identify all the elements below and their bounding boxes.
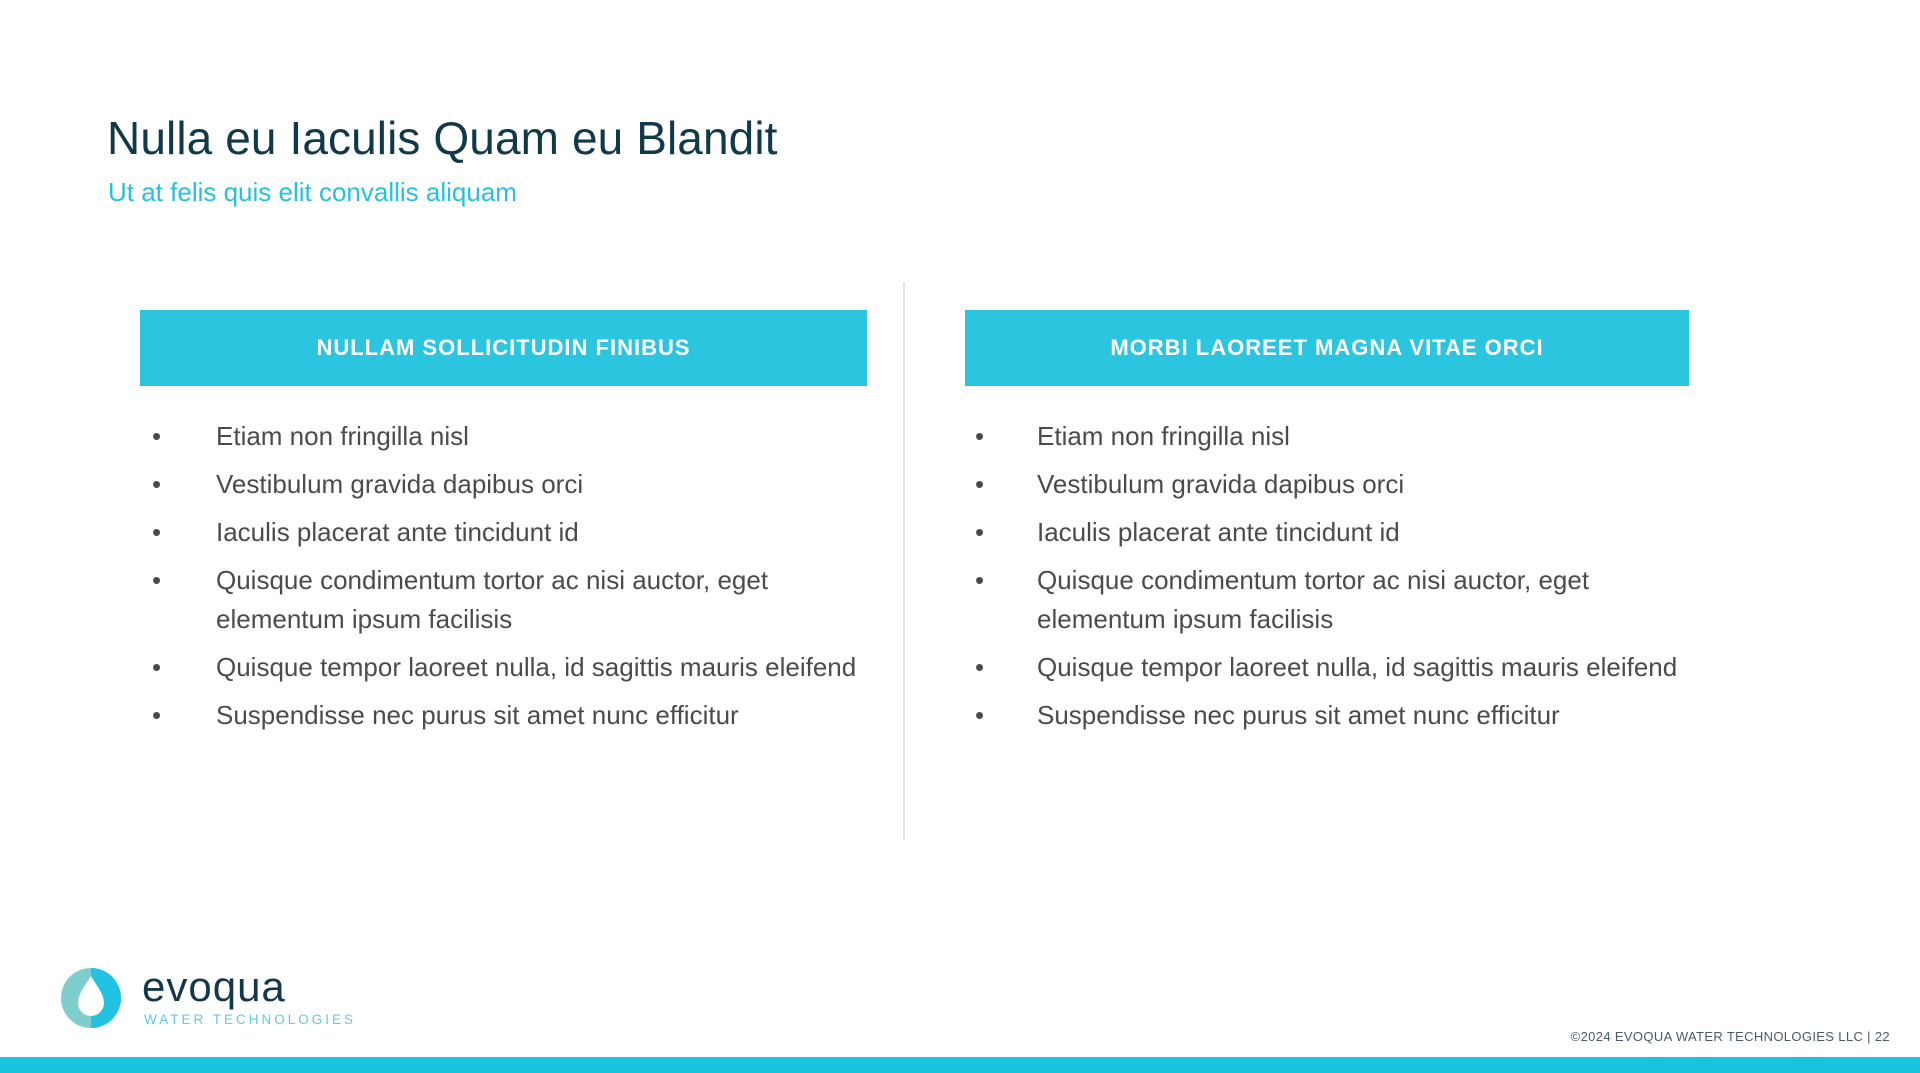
list-item-text: Quisque tempor laoreet nulla, id sagitti… [1037,652,1677,682]
column-header-left: NULLAM SOLLICITUDIN FINIBUS [140,310,867,386]
bullet-marker-icon: • [975,648,984,687]
logo-tagline: WATER TECHNOLOGIES [144,1011,356,1029]
list-item: • Quisque condimentum tortor ac nisi auc… [140,561,867,639]
logo-wordmark: evoqua [142,965,356,1008]
list-item-text: Quisque condimentum tortor ac nisi aucto… [1037,565,1589,634]
bullet-marker-icon: • [152,465,161,504]
bullet-marker-icon: • [975,465,984,504]
copyright-notice: ©2024 EVOQUA WATER TECHNOLOGIES LLC | 22 [1571,1029,1890,1044]
evoqua-logo: evoqua WATER TECHNOLOGIES [58,962,356,1032]
list-item: • Vestibulum gravida dapibus orci [140,465,867,504]
column-divider [903,282,905,840]
content-column-right: MORBI LAOREET MAGNA VITAE ORCI • Etiam n… [965,310,1689,744]
logo-text-block: evoqua WATER TECHNOLOGIES [142,965,356,1029]
list-item: • Quisque tempor laoreet nulla, id sagit… [965,648,1689,687]
list-item-text: Etiam non fringilla nisl [1037,421,1290,451]
list-item-text: Suspendisse nec purus sit amet nunc effi… [216,700,739,730]
bullet-marker-icon: • [152,513,161,552]
bullet-marker-icon: • [152,561,161,600]
list-item-text: Suspendisse nec purus sit amet nunc effi… [1037,700,1560,730]
list-item: • Iaculis placerat ante tincidunt id [965,513,1689,552]
page-title: Nulla eu Iaculis Quam eu Blandit [107,110,778,166]
list-item-text: Iaculis placerat ante tincidunt id [216,517,579,547]
list-item: • Quisque condimentum tortor ac nisi auc… [965,561,1689,639]
page-subtitle: Ut at felis quis elit convallis aliquam [108,176,517,208]
bullet-marker-icon: • [152,696,161,735]
bullet-marker-icon: • [152,417,161,456]
bullet-list-right: • Etiam non fringilla nisl • Vestibulum … [965,417,1689,735]
list-item: • Suspendisse nec purus sit amet nunc ef… [965,696,1689,735]
bullet-marker-icon: • [975,513,984,552]
bullet-marker-icon: • [152,648,161,687]
list-item-text: Quisque condimentum tortor ac nisi aucto… [216,565,768,634]
slide-canvas: Nulla eu Iaculis Quam eu Blandit Ut at f… [0,0,1920,1073]
bullet-list-left: • Etiam non fringilla nisl • Vestibulum … [140,417,867,735]
footer-accent-bar [0,1057,1920,1073]
content-column-left: NULLAM SOLLICITUDIN FINIBUS • Etiam non … [140,310,867,744]
list-item-text: Iaculis placerat ante tincidunt id [1037,517,1400,547]
list-item: • Suspendisse nec purus sit amet nunc ef… [140,696,867,735]
list-item: • Vestibulum gravida dapibus orci [965,465,1689,504]
list-item: • Etiam non fringilla nisl [965,417,1689,456]
list-item-text: Vestibulum gravida dapibus orci [216,469,583,499]
list-item-text: Quisque tempor laoreet nulla, id sagitti… [216,652,856,682]
list-item: • Etiam non fringilla nisl [140,417,867,456]
bullet-marker-icon: • [975,561,984,600]
list-item: • Quisque tempor laoreet nulla, id sagit… [140,648,867,687]
bullet-marker-icon: • [975,417,984,456]
list-item: • Iaculis placerat ante tincidunt id [140,513,867,552]
bullet-marker-icon: • [975,696,984,735]
water-droplet-icon [58,962,124,1032]
column-header-right: MORBI LAOREET MAGNA VITAE ORCI [965,310,1689,386]
list-item-text: Etiam non fringilla nisl [216,421,469,451]
list-item-text: Vestibulum gravida dapibus orci [1037,469,1404,499]
